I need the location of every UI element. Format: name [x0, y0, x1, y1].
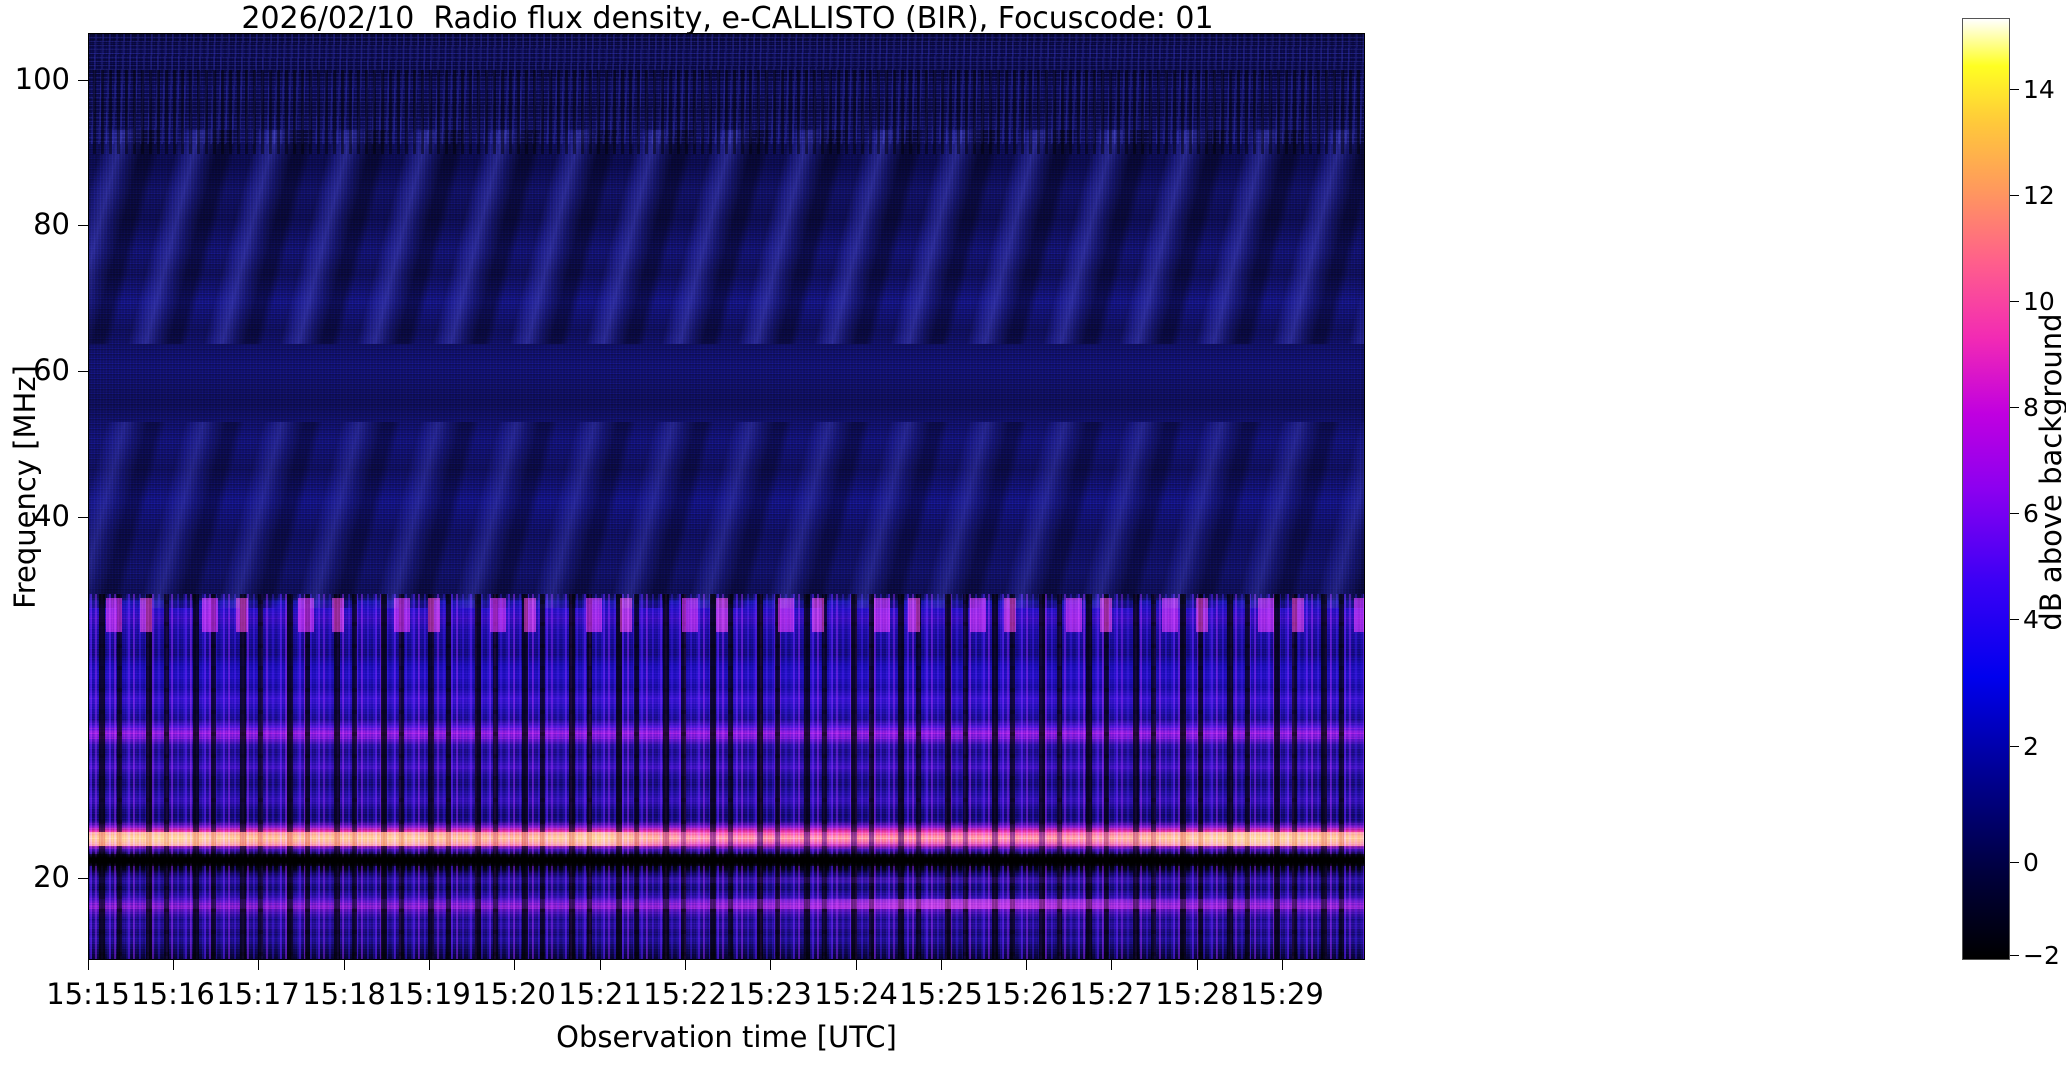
- x-tick-mark-8: [770, 960, 771, 970]
- y-tick-label-20: 20: [0, 863, 70, 892]
- x-tick-mark-7: [685, 960, 686, 970]
- colorbar-tick-mark-4: [2010, 619, 2019, 620]
- y-axis-label: Frequency [MHz]: [8, 7, 42, 967]
- x-tick-mark-0: [88, 960, 89, 970]
- x-tick-mark-9: [856, 960, 857, 970]
- colorbar[interactable]: [1962, 18, 2010, 960]
- x-axis-label: Observation time [UTC]: [88, 1020, 1365, 1054]
- colorbar-tick-mark-0: [2010, 862, 2019, 863]
- colorbar-label: dB above background: [2034, 142, 2066, 802]
- colorbar-tick-mark-12: [2010, 195, 2019, 196]
- y-tick-label-80: 80: [0, 210, 70, 239]
- y-tick-mark-40: [78, 517, 88, 518]
- colorbar-tick-mark-14: [2010, 89, 2019, 90]
- x-tick-mark-5: [514, 960, 515, 970]
- spectrogram-figure: 2026/02/10 Radio flux density, e-CALLIST…: [0, 0, 2066, 1067]
- y-tick-mark-100: [78, 80, 88, 81]
- y-tick-label-60: 60: [0, 356, 70, 385]
- x-tick-mark-2: [258, 960, 259, 970]
- y-tick-mark-20: [78, 878, 88, 879]
- x-tick-mark-11: [1026, 960, 1027, 970]
- colorbar-tick-mark-6: [2010, 513, 2019, 514]
- page-title: 2026/02/10 Radio flux density, e-CALLIST…: [0, 2, 1455, 36]
- x-tick-mark-3: [344, 960, 345, 970]
- y-tick-mark-80: [78, 225, 88, 226]
- colorbar-tick-mark-neg2: [2010, 955, 2019, 956]
- colorbar-tick-label-0: 0: [2023, 850, 2039, 875]
- spectrogram-plot-area[interactable]: [88, 33, 1365, 960]
- colorbar-tick-mark-2: [2010, 746, 2019, 747]
- y-tick-mark-60: [78, 371, 88, 372]
- colorbar-tick-mark-8: [2010, 407, 2019, 408]
- colorbar-tick-mark-10: [2010, 301, 2019, 302]
- x-tick-mark-6: [600, 960, 601, 970]
- colorbar-tick-label-neg2: −2: [2023, 943, 2060, 968]
- colorbar-gradient: [1963, 19, 2009, 959]
- x-tick-mark-13: [1197, 960, 1198, 970]
- x-tick-mark-10: [941, 960, 942, 970]
- y-tick-label-40: 40: [0, 502, 70, 531]
- x-tick-mark-4: [429, 960, 430, 970]
- x-tick-mark-12: [1111, 960, 1112, 970]
- colorbar-tick-label-14: 14: [2023, 77, 2055, 102]
- global-noise-layer: [88, 33, 1365, 960]
- x-tick-mark-14: [1282, 960, 1283, 970]
- x-tick-mark-1: [173, 960, 174, 970]
- y-tick-label-100: 100: [0, 65, 70, 94]
- x-tick-label-14: 15:29: [1192, 978, 1372, 1010]
